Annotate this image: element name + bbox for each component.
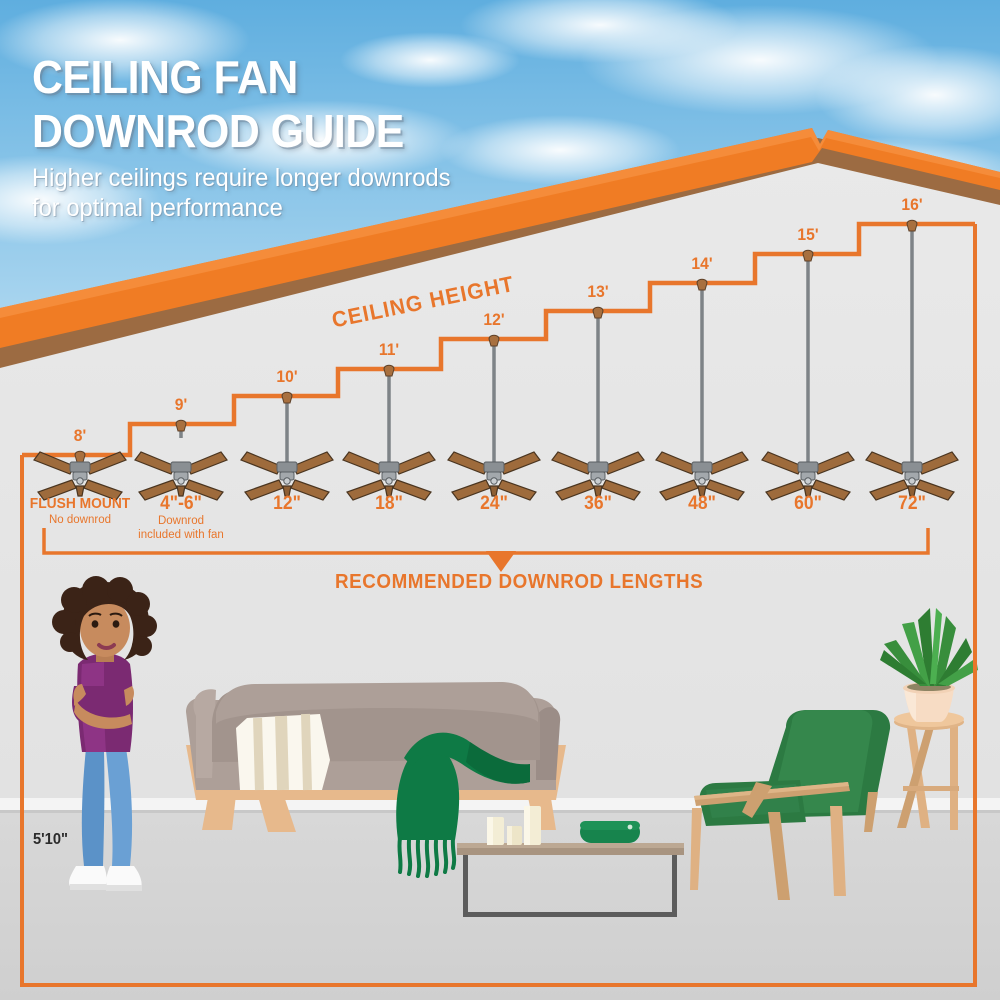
fan-unit (135, 420, 227, 500)
ceiling-label-8ft: 8' (57, 427, 103, 444)
ceiling-label-12ft: 12' (471, 311, 517, 328)
page-title-line1: CEILING FAN (32, 54, 298, 100)
downrod-label-60in: 60" (762, 494, 854, 513)
ceiling-label-9ft: 9' (158, 396, 204, 413)
fan-unit (762, 250, 854, 500)
ceiling-label-16ft: 16' (889, 196, 935, 213)
downrod-note-flush-mount: No downrod (25, 514, 135, 528)
fan-unit (241, 392, 333, 500)
ceiling-label-14ft: 14' (679, 255, 725, 272)
fan-unit (343, 365, 435, 500)
person-height-label: 5'10" (33, 832, 68, 848)
ceiling-fans (34, 220, 958, 500)
fan-unit (656, 279, 748, 500)
page-subtitle-line1: Higher ceilings require longer downrods (32, 166, 450, 191)
recommended-downrod-lengths-label: RECOMMENDED DOWNROD LENGTHS (335, 572, 703, 592)
ceiling-label-15ft: 15' (785, 226, 831, 243)
downrod-label-36in: 36" (552, 494, 644, 513)
fan-unit (34, 451, 126, 500)
page-subtitle-line2: for optimal performance (32, 196, 283, 221)
downrod-label-flush-mount: FLUSH MOUNT (25, 496, 135, 511)
ceiling-label-11ft: 11' (366, 341, 412, 358)
ceiling-label-13ft: 13' (575, 283, 621, 300)
downrod-label-72in: 72" (866, 494, 958, 513)
downrod-label-48in: 48" (656, 494, 748, 513)
downrod-label-12in: 12" (241, 494, 333, 513)
fan-unit (448, 335, 540, 500)
page-title-line2: DOWNROD GUIDE (32, 108, 404, 154)
downrod-label-18in: 18" (343, 494, 435, 513)
ceiling-label-10ft: 10' (264, 368, 310, 385)
downrod-label-4-6in: 4"-6" (135, 494, 227, 513)
infographic-canvas: CEILING FAN DOWNROD GUIDE Higher ceiling… (0, 0, 1000, 1000)
downrod-label-24in: 24" (448, 494, 540, 513)
fan-unit (866, 220, 958, 500)
downrod-note-4-6in: Downrod included with fan (136, 515, 226, 542)
fan-unit (552, 307, 644, 500)
bracket-arrow-icon (486, 551, 516, 572)
